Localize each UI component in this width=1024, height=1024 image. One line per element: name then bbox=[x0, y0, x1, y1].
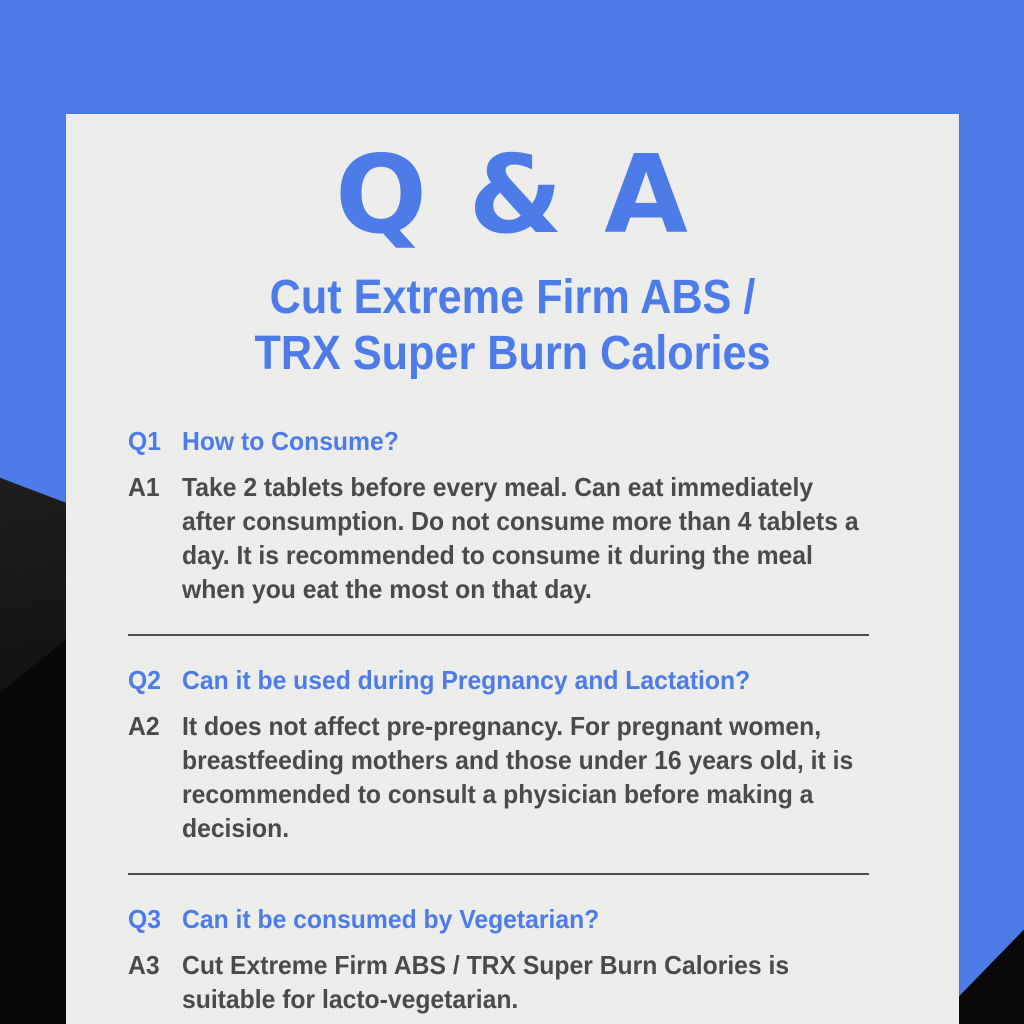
qa-divider bbox=[128, 634, 869, 636]
answer-text: Cut Extreme Firm ABS / TRX Super Burn Ca… bbox=[182, 949, 861, 1017]
answer-label: A1 bbox=[128, 471, 179, 505]
question-text: Can it be consumed by Vegetarian? bbox=[182, 903, 861, 937]
question-label: Q2 bbox=[128, 664, 179, 698]
qa-card: Q & A Cut Extreme Firm ABS / TRX Super B… bbox=[66, 114, 959, 1024]
qa-item: Q1 How to Consume? A1 Take 2 tablets bef… bbox=[128, 425, 897, 606]
answer-text: It does not affect pre-pregnancy. For pr… bbox=[182, 710, 861, 845]
answer-label: A3 bbox=[128, 949, 179, 983]
qa-answer-row: A3 Cut Extreme Firm ABS / TRX Super Burn… bbox=[128, 949, 897, 1017]
qa-item: Q3 Can it be consumed by Vegetarian? A3 … bbox=[128, 903, 897, 1016]
question-label: Q3 bbox=[128, 903, 179, 937]
qa-question-row: Q1 How to Consume? bbox=[128, 425, 897, 459]
page-title: Q & A bbox=[66, 114, 959, 250]
qa-question-row: Q3 Can it be consumed by Vegetarian? bbox=[128, 903, 897, 937]
subtitle-line-1: Cut Extreme Firm ABS / bbox=[174, 270, 852, 326]
answer-text: Take 2 tablets before every meal. Can ea… bbox=[182, 471, 861, 606]
qa-item: Q2 Can it be used during Pregnancy and L… bbox=[128, 664, 897, 845]
poster-canvas: Q & A Cut Extreme Firm ABS / TRX Super B… bbox=[0, 0, 1024, 1024]
question-text: Can it be used during Pregnancy and Lact… bbox=[182, 664, 861, 698]
answer-label: A2 bbox=[128, 710, 179, 744]
question-text: How to Consume? bbox=[182, 425, 861, 459]
qa-question-row: Q2 Can it be used during Pregnancy and L… bbox=[128, 664, 897, 698]
subtitle-line-2: TRX Super Burn Calories bbox=[174, 326, 852, 382]
qa-list: Q1 How to Consume? A1 Take 2 tablets bef… bbox=[66, 425, 959, 1024]
qa-answer-row: A2 It does not affect pre-pregnancy. For… bbox=[128, 710, 897, 845]
qa-divider bbox=[128, 873, 869, 875]
product-subtitle: Cut Extreme Firm ABS / TRX Super Burn Ca… bbox=[111, 270, 915, 381]
question-label: Q1 bbox=[128, 425, 179, 459]
qa-answer-row: A1 Take 2 tablets before every meal. Can… bbox=[128, 471, 897, 606]
